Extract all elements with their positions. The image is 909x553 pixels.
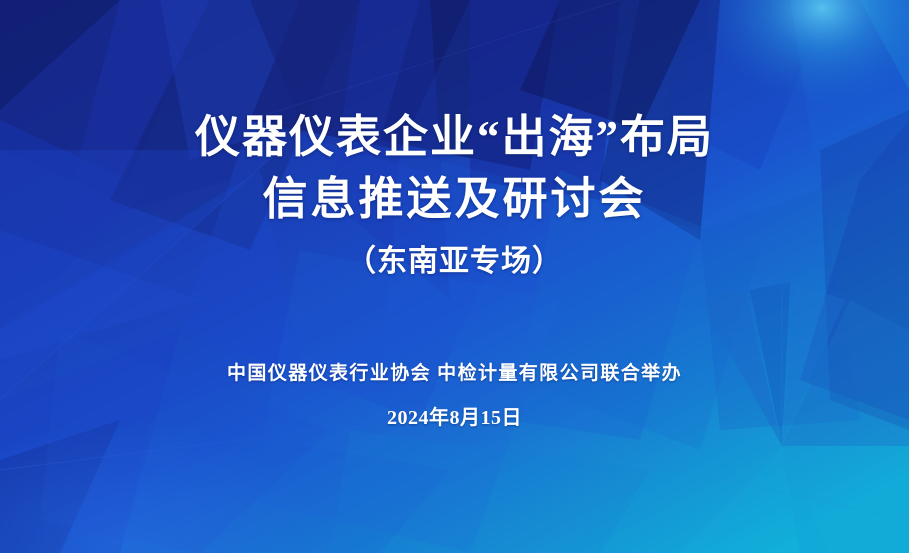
poster-title-block: 仪器仪表企业“出海”布局 信息推送及研讨会 (0, 106, 909, 230)
title-line-1: 仪器仪表企业“出海”布局 (0, 106, 909, 168)
event-poster: 仪器仪表企业“出海”布局 信息推送及研讨会 （东南亚专场） 中国仪器仪表行业协会… (0, 0, 909, 553)
event-date: 2024年8月15日 (0, 405, 909, 431)
organizer-line: 中国仪器仪表行业协会 中检计量有限公司联合举办 (0, 362, 909, 386)
poster-subtitle: （东南亚专场） (0, 243, 909, 281)
poster-content: 仪器仪表企业“出海”布局 信息推送及研讨会 （东南亚专场） 中国仪器仪表行业协会… (0, 0, 909, 553)
title-line-2: 信息推送及研讨会 (0, 168, 909, 230)
